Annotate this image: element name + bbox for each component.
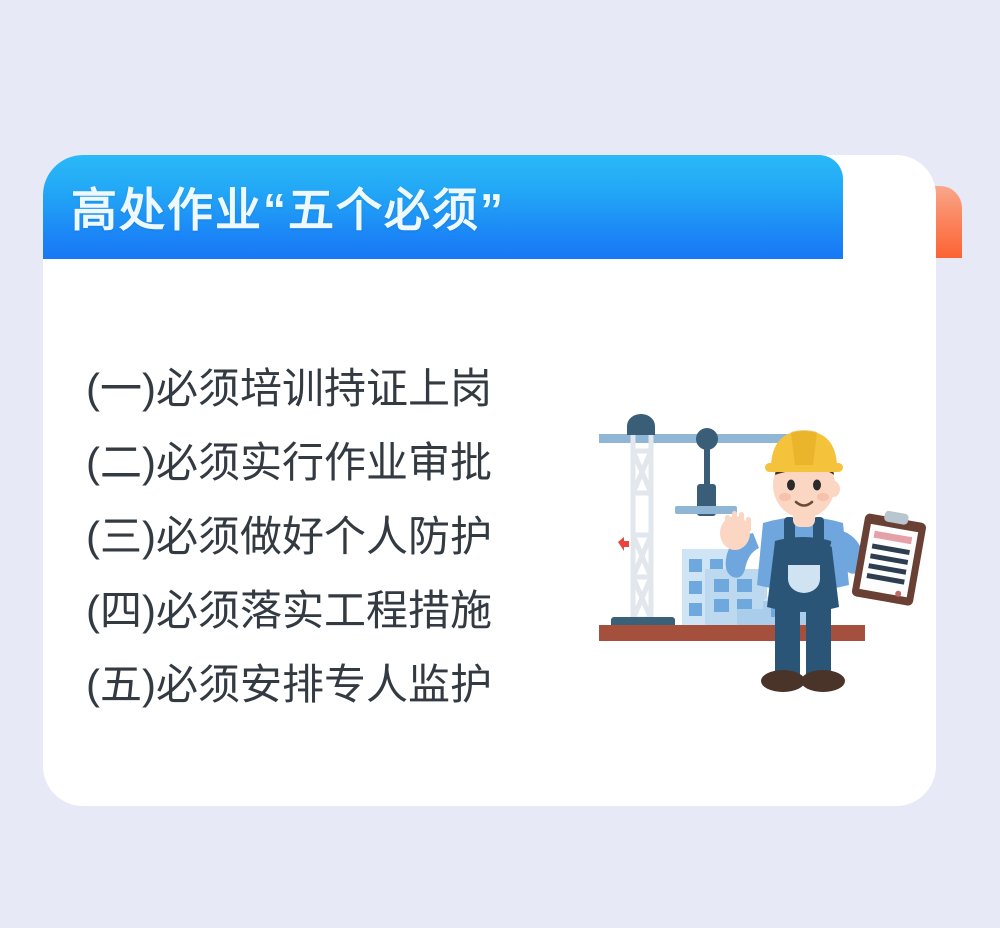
poster-root: 高处作业“五个必须” (一)必须培训持证上岗 (二)必须实行作业审批 (三)必须…	[0, 0, 1000, 928]
worker-figure-icon	[720, 430, 864, 692]
crane-cable-icon	[704, 448, 710, 488]
page-title: 高处作业“五个必须”	[71, 174, 505, 240]
shoe-right-icon	[801, 670, 845, 692]
crane-tower-icon	[633, 435, 651, 621]
overalls-pocket-icon	[788, 565, 820, 593]
construction-worker-illustration	[585, 405, 945, 715]
clipboard-icon	[851, 507, 928, 606]
list-item: (三)必须做好个人防护	[86, 500, 556, 574]
eye-left-icon	[787, 480, 795, 491]
shoe-left-icon	[761, 670, 805, 692]
eye-right-icon	[813, 480, 821, 491]
list-item: (一)必须培训持证上岗	[86, 352, 556, 426]
crane-cab-icon	[627, 414, 655, 435]
crane-jib-icon	[599, 434, 791, 443]
alarm-bell-icon	[618, 537, 629, 551]
list-item: (五)必须安排专人监护	[86, 648, 556, 722]
card-header: 高处作业“五个必须”	[43, 155, 843, 259]
crane-pulley-icon	[696, 428, 718, 450]
rules-list: (一)必须培训持证上岗 (二)必须实行作业审批 (三)必须做好个人防护 (四)必…	[86, 352, 556, 722]
list-item: (二)必须实行作业审批	[86, 426, 556, 500]
list-item: (四)必须落实工程措施	[86, 574, 556, 648]
crane-load-beam-icon	[675, 506, 737, 514]
